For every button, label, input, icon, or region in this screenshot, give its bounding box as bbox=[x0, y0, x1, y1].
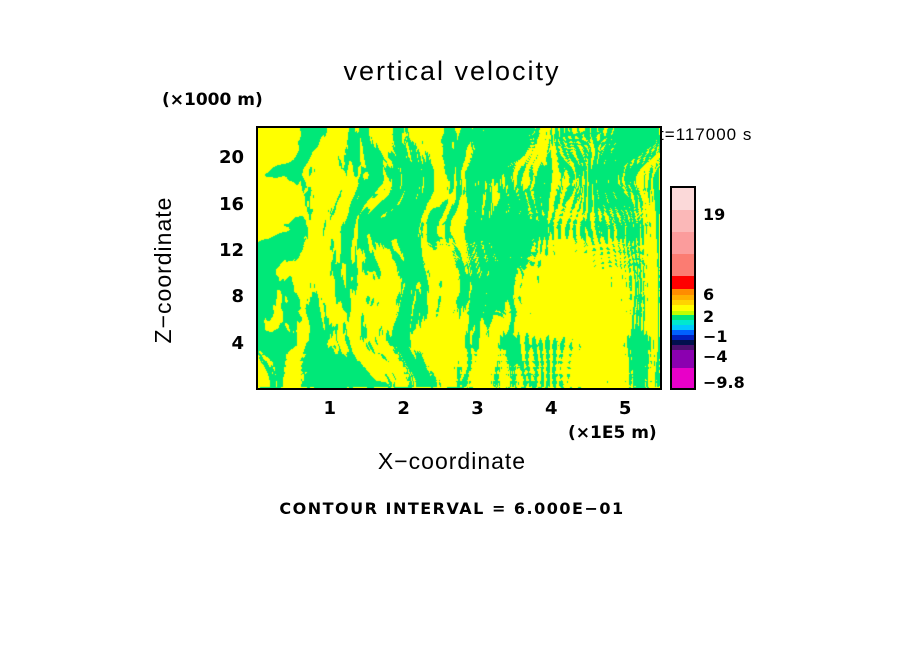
colorbar-label-0: 19 bbox=[703, 205, 725, 224]
y-axis-tick-4: 4 bbox=[204, 333, 244, 354]
colorbar-band-0 bbox=[672, 188, 694, 210]
colorbar-label-2: 2 bbox=[703, 307, 714, 326]
colorbar-band-1 bbox=[672, 210, 694, 232]
x-axis-tick-1: 1 bbox=[310, 398, 350, 419]
x-axis-tick-4: 4 bbox=[531, 398, 571, 419]
x-axis-tick-5: 5 bbox=[605, 398, 645, 419]
colorbar-band-18 bbox=[672, 368, 694, 388]
contour-interval-caption: CONTOUR INTERVAL = 6.000E−01 bbox=[0, 499, 904, 518]
y-axis-tick-20: 20 bbox=[204, 147, 244, 168]
colorbar-label-3: −1 bbox=[703, 327, 728, 346]
time-stamp-label: t=117000 s bbox=[659, 125, 752, 145]
contour-field-canvas bbox=[258, 128, 660, 388]
x-axis-unit-label: (×1E5 m) bbox=[568, 423, 657, 443]
y-axis-title: Z−coordinate bbox=[150, 160, 177, 380]
colorbar-label-1: 6 bbox=[703, 285, 714, 304]
contour-plot-area bbox=[256, 126, 662, 390]
colorbar-band-2 bbox=[672, 232, 694, 254]
colorbar-band-4 bbox=[672, 276, 694, 289]
colorbar-label-5: −9.8 bbox=[703, 373, 745, 392]
y-axis-tick-12: 12 bbox=[204, 240, 244, 261]
x-axis-tick-2: 2 bbox=[384, 398, 424, 419]
y-axis-tick-16: 16 bbox=[204, 194, 244, 215]
y-axis-unit-label: (×1000 m) bbox=[162, 90, 263, 110]
y-axis-tick-8: 8 bbox=[204, 286, 244, 307]
colorbar-legend bbox=[670, 186, 696, 390]
colorbar-band-3 bbox=[672, 254, 694, 276]
x-axis-title: X−coordinate bbox=[0, 448, 904, 475]
colorbar-band-17 bbox=[672, 350, 694, 368]
x-axis-tick-3: 3 bbox=[457, 398, 497, 419]
colorbar-label-4: −4 bbox=[703, 347, 728, 366]
page-title: vertical velocity bbox=[0, 56, 904, 87]
